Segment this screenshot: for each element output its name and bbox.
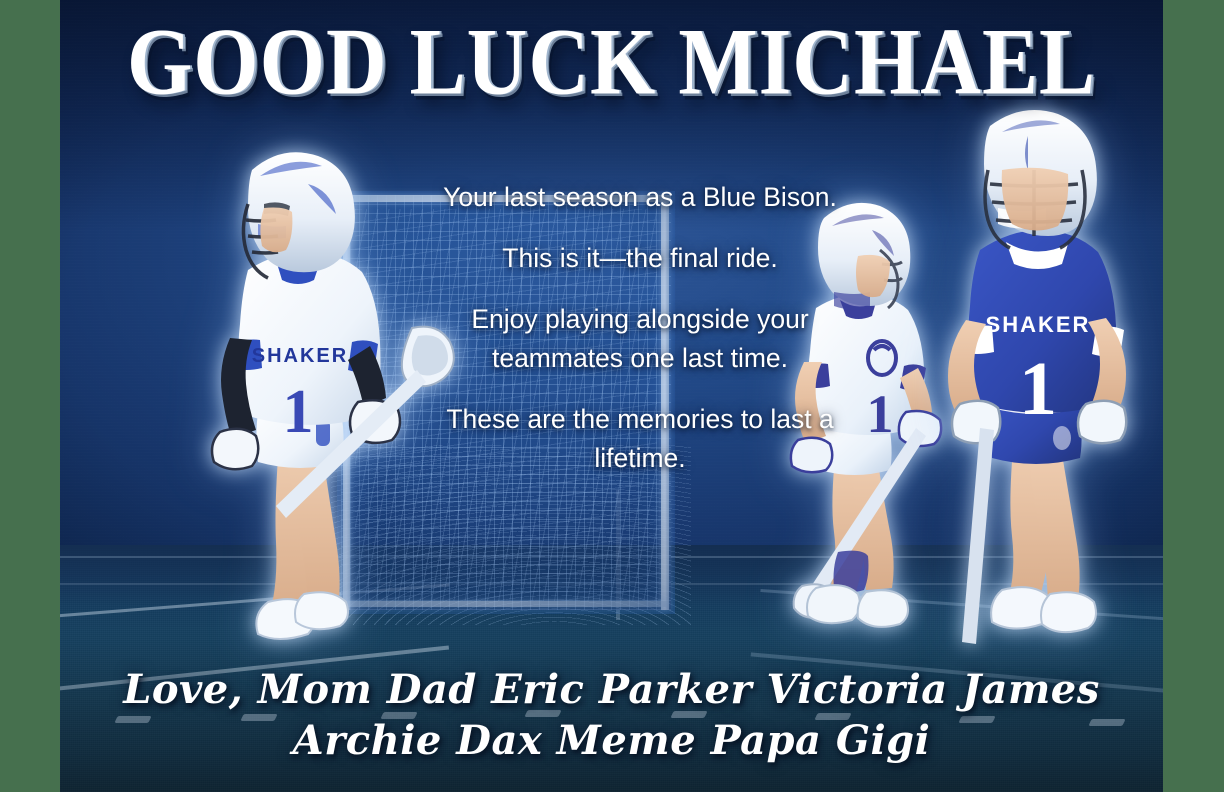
lacrosse-stick-right [962,428,994,644]
svg-text:1: 1 [283,378,314,446]
signature-line-1: Love, Mom Dad Eric Parker Victoria James [120,664,1103,715]
message-line-4: These are the memories to last a lifetim… [410,400,870,478]
poster-frame: SHAKER 1 [0,0,1224,792]
message-line-3: Enjoy playing alongside your teammates o… [410,300,870,378]
message-block: Your last season as a Blue Bison. This i… [410,178,870,478]
svg-text:1: 1 [1019,347,1057,431]
message-line-1: Your last season as a Blue Bison. [410,178,870,217]
page-title: GOOD LUCK MICHAEL [60,15,1163,111]
player-right-hands-on-hips: SHAKER 1 [910,108,1163,653]
signature-block: Love, Mom Dad Eric Parker Victoria James… [120,664,1103,766]
svg-text:1: 1 [867,384,894,444]
poster-artwork: SHAKER 1 [60,0,1163,792]
svg-text:SHAKER: SHAKER [986,312,1091,337]
svg-text:SHAKER: SHAKER [252,345,348,367]
matte-right [1163,0,1224,792]
message-line-2: This is it—the final ride. [410,239,870,278]
signature-line-2: Archie Dax Meme Papa Gigi [120,715,1103,766]
matte-left [0,0,60,792]
